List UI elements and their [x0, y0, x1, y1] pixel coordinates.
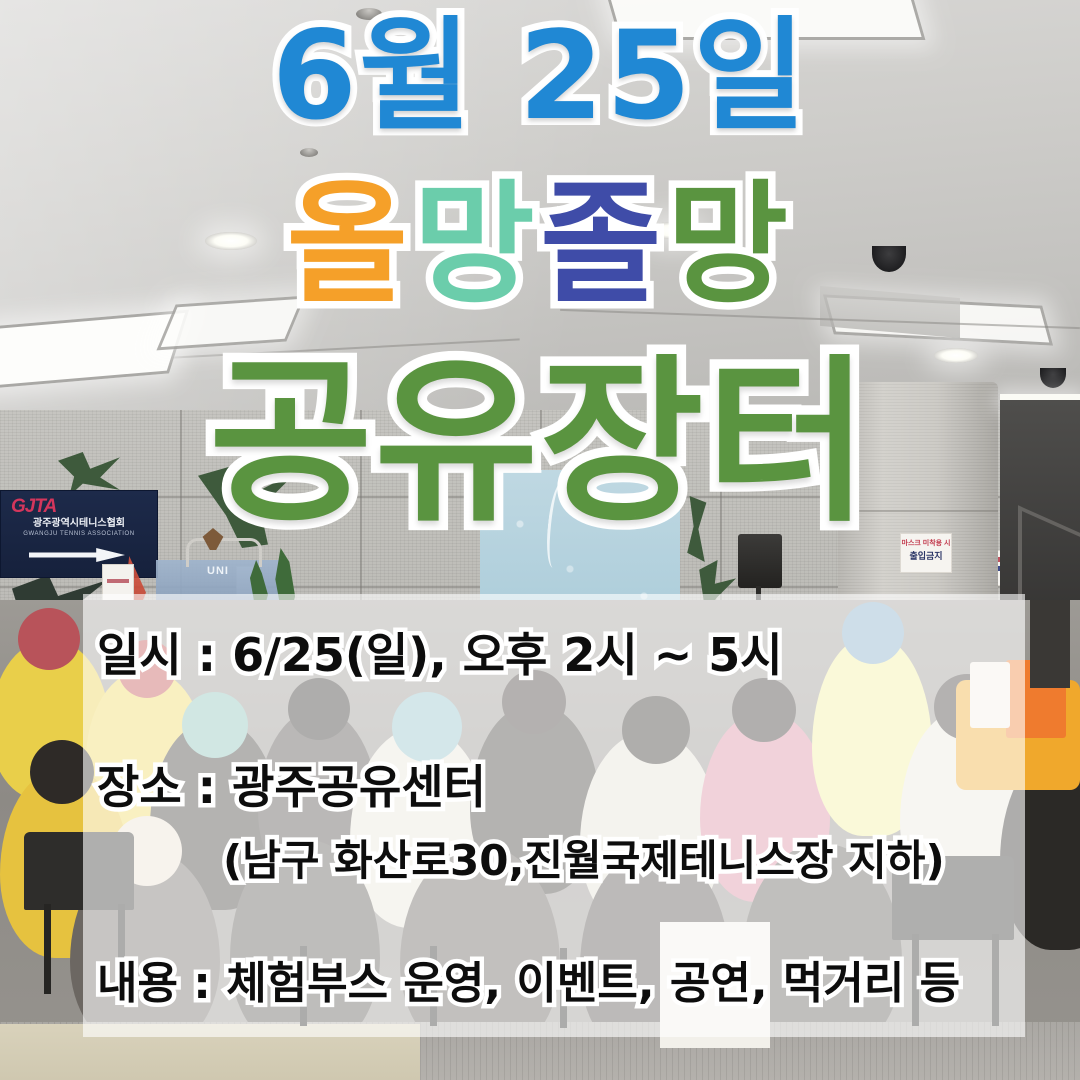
info-address: (남구 화산로30,진월국제테니스장 지하) [223, 838, 945, 884]
sprinkler-head [300, 148, 318, 157]
ceiling-downlight [934, 348, 978, 363]
gjta-logo: GJTA [11, 497, 56, 516]
chair-leg [44, 904, 51, 994]
column-notice-line1: 마스크 미착용 시 [901, 540, 951, 547]
pa-speaker [738, 534, 782, 588]
gjta-name-english: GWANGJU TENNIS ASSOCIATION [3, 531, 155, 538]
info-program: 내용 : 체험부스 운영, 이벤트, 공연, 먹거리 등 [97, 960, 960, 1008]
sprinkler-head [356, 8, 382, 20]
gjta-name-korean: 광주광역시테니스협회 [3, 518, 155, 529]
tennis-association-sign: GJTA 광주광역시테니스협회 GWANGJU TENNIS ASSOCIATI… [0, 490, 158, 578]
person-head [18, 608, 80, 670]
event-poster: GJTA 광주광역시테니스협회 GWANGJU TENNIS ASSOCIATI… [0, 0, 1080, 1080]
column-notice-sign: 마스크 미착용 시 출입금지 [900, 533, 952, 573]
info-venue: 장소 : 광주공유센터 [97, 762, 486, 813]
info-datetime: 일시 : 6/25(일), 오후 2시 ~ 5시 [97, 630, 783, 681]
arrow-right-icon [29, 547, 125, 563]
booth-display-rack [186, 538, 262, 567]
luggage-cart [1030, 600, 1070, 688]
column-notice-line2: 출입금지 [901, 552, 951, 561]
ceiling-downlight [648, 222, 698, 239]
ceiling-downlight [205, 232, 257, 250]
info-text-block: 일시 : 6/25(일), 오후 2시 ~ 5시 장소 : 광주공유센터 (남구… [83, 594, 1025, 1037]
ceiling-panel-light [605, 0, 926, 40]
